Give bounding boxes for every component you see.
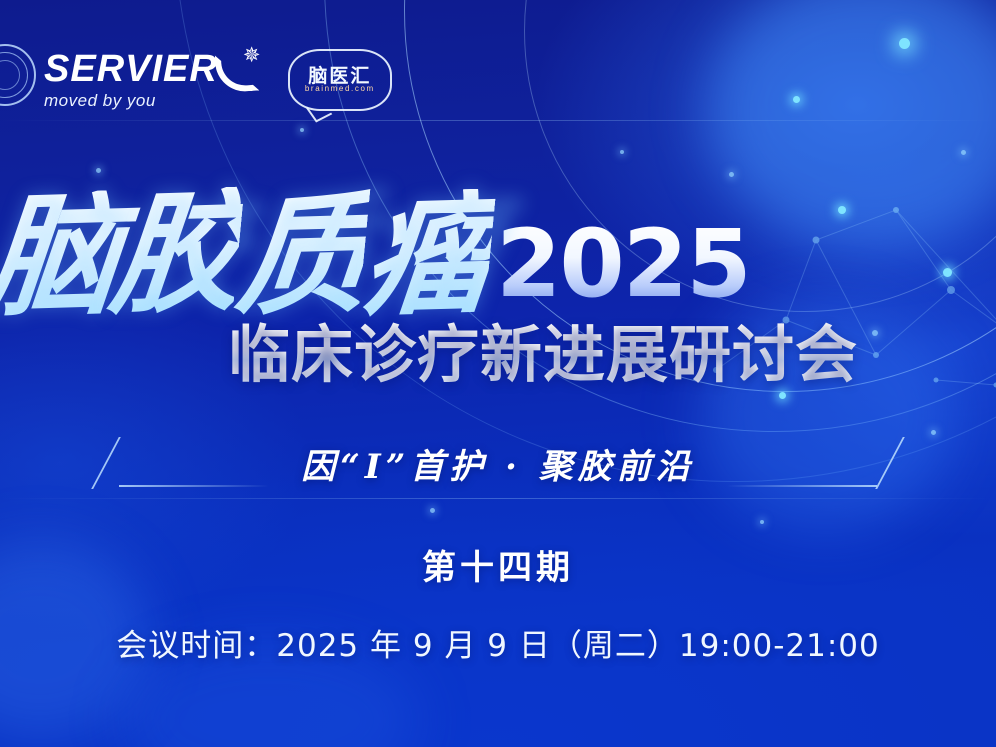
servier-swoosh-icon: ✵ [214,52,260,86]
title-calligraphy-part1: 脑胶 [0,187,245,326]
servier-tagline: moved by you [44,91,260,111]
title-year: 2025 [496,218,750,312]
particle-dot [729,172,734,177]
servier-wordmark: SERVIER [44,50,218,88]
particle-dot [760,520,764,524]
angle-bracket-left-icon [83,441,283,485]
particle-dot [430,508,435,513]
main-title-row: 脑胶 质 瘤 2025 [0,182,846,322]
particle-dot [96,168,101,173]
episode-label: 第十四期 [0,540,996,589]
particle-dot [779,392,786,399]
title-calligraphy-tumor: 瘤 [358,188,497,323]
brainmed-name-en: brainmed.com [288,84,392,93]
title-subtitle: 临床诊疗新进展研讨会 [228,322,996,387]
particle-dot [899,38,910,49]
starburst-icon: ✵ [243,46,262,65]
angle-bracket-right-icon [713,441,913,485]
scan-line-1 [0,120,996,121]
brainmed-logo: 脑医汇 brainmed.com [288,49,392,111]
servier-logo: SERVIER ✵ moved by you [44,50,260,111]
particle-dot [793,96,800,103]
conference-banner: SERVIER ✵ moved by you 脑医汇 brainmed.com … [0,0,996,747]
particle-dot [943,268,952,277]
particle-dot [961,150,966,155]
tagline-row: 因“I”首护 · 聚胶前沿 [0,432,996,494]
schedule-text: 会议时间：2025 年 9 月 9 日（周二）19:00-21:00 [0,620,996,665]
particle-dot [300,128,304,132]
particle-dot [620,150,624,154]
tagline-text: 因“I”首护 · 聚胶前沿 [301,439,695,488]
logo-row: SERVIER ✵ moved by you 脑医汇 brainmed.com [0,44,392,116]
title-calligraphy-part2: 质 [232,188,371,323]
scan-line-2 [0,498,996,499]
